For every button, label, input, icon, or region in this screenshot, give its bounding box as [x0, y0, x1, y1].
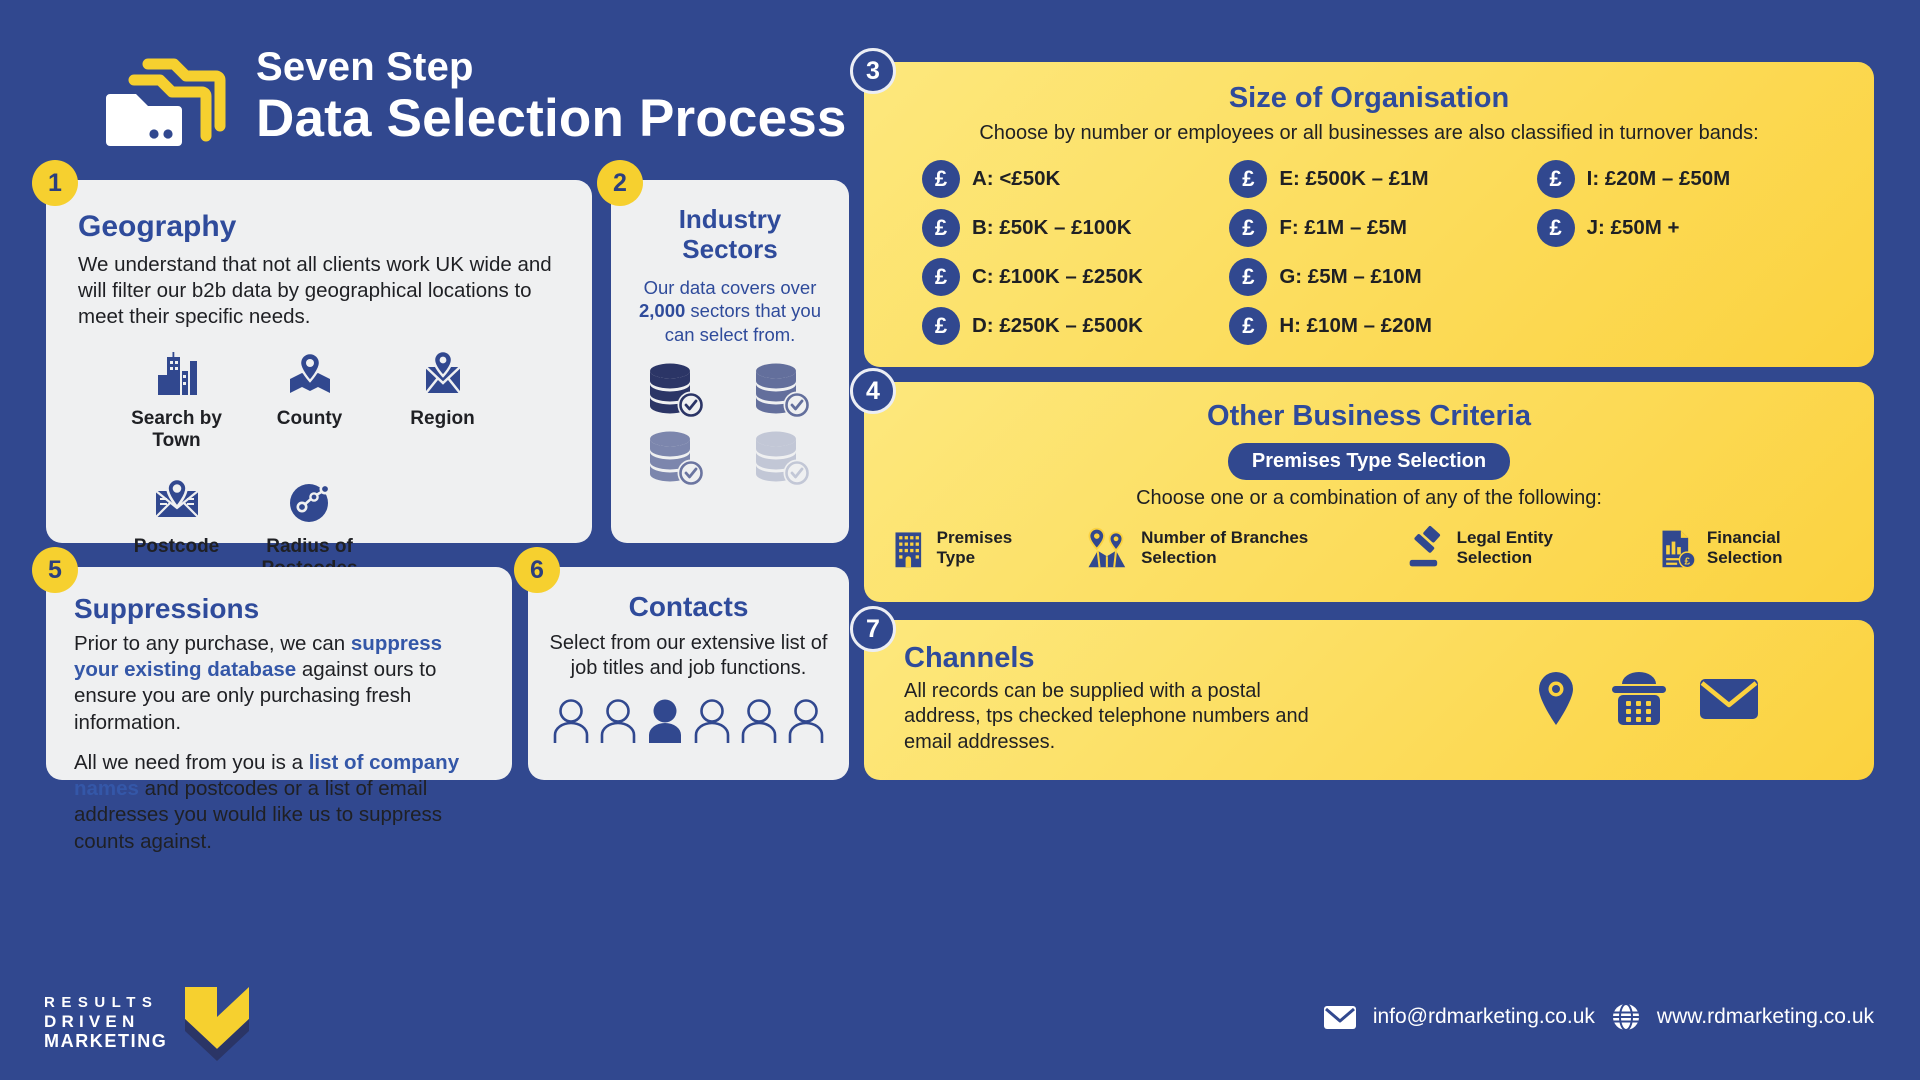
database-check-icon: [644, 360, 710, 422]
pound-icon: £: [922, 258, 960, 296]
step-badge-7: 7: [850, 606, 896, 652]
turnover-band-empty: [1537, 307, 1844, 345]
suppressions-p1-a: Prior to any purchase, we can: [74, 632, 351, 655]
criteria-item-legal-entity[interactable]: Legal Entity Selection: [1406, 525, 1618, 571]
section-card-contacts: 6 Contacts Select from our extensive lis…: [528, 567, 849, 780]
page-title: Seven Step Data Selection Process: [256, 46, 847, 147]
turnover-band-label: H: £10M – £20M: [1279, 314, 1432, 338]
turnover-band-g[interactable]: £G: £5M – £10M: [1229, 258, 1536, 296]
geography-title: Geography: [78, 210, 560, 244]
pound-icon: £: [1229, 307, 1267, 345]
database-check-icon: [750, 360, 816, 422]
chevron-logo-icon: [181, 985, 253, 1061]
telephone-icon: [1608, 670, 1670, 728]
office-building-icon: [890, 525, 927, 571]
geography-item-county[interactable]: County: [243, 345, 376, 452]
database-check-icon: [750, 428, 816, 490]
channels-title: Channels: [904, 642, 1324, 675]
geography-item-label: Search by Town: [110, 408, 243, 452]
turnover-band-label: A: <£50K: [972, 167, 1060, 191]
turnover-band-f[interactable]: £F: £1M – £5M: [1229, 209, 1536, 247]
section-card-channels: 7 Channels All records can be supplied w…: [864, 620, 1874, 780]
turnover-band-a[interactable]: £A: <£50K: [922, 160, 1229, 198]
geography-item-label: Postcode: [110, 536, 243, 558]
pound-icon: £: [1537, 209, 1575, 247]
person-outline-icon: [739, 697, 779, 745]
logo-line-2: DRIVEN: [44, 1012, 167, 1031]
criteria-item-premises-type[interactable]: Premises Type: [890, 525, 1045, 571]
envelope-pin-icon: [110, 473, 243, 527]
pound-icon: £: [922, 209, 960, 247]
step-badge-1: 1: [32, 160, 78, 206]
geography-item-radius-of-postcodes[interactable]: Radius of Postcodes: [243, 473, 376, 580]
channel-icons-row: [1532, 670, 1760, 728]
turnover-band-label: E: £500K – £1M: [1279, 167, 1428, 191]
logo-line-1: RESULTS: [44, 995, 167, 1012]
geography-body: We understand that not all clients work …: [78, 252, 560, 331]
other-business-criteria-subtitle: Choose one or a combination of any of th…: [890, 486, 1848, 511]
turnover-band-label: F: £1M – £5M: [1279, 216, 1407, 240]
turnover-band-d[interactable]: £D: £250K – £500K: [922, 307, 1229, 345]
location-pin-icon: [1532, 670, 1580, 728]
step-badge-6: 6: [514, 547, 560, 593]
title-line-2: Data Selection Process: [256, 90, 847, 147]
suppressions-p2-a: All we need from you is a: [74, 751, 309, 774]
criteria-item-financial-selection[interactable]: £ Financial Selection: [1657, 525, 1848, 571]
geography-item-region[interactable]: Region: [376, 345, 509, 452]
turnover-band-label: G: £5M – £10M: [1279, 265, 1421, 289]
person-filled-icon: [645, 697, 685, 745]
contacts-title: Contacts: [546, 591, 831, 623]
folder-icon: [104, 42, 228, 152]
suppressions-paragraph-2: All we need from you is a list of compan…: [74, 750, 484, 855]
geography-item-postcode[interactable]: Postcode: [110, 473, 243, 580]
sectors-text-after: sectors that you can select from.: [665, 300, 821, 344]
person-outline-icon: [692, 697, 732, 745]
title-line-1: Seven Step: [256, 46, 847, 88]
step-badge-3: 3: [850, 48, 896, 94]
turnover-band-i[interactable]: £I: £20M – £50M: [1537, 160, 1844, 198]
geography-item-label: Region: [376, 408, 509, 430]
logo-wordmark: RESULTS DRIVEN MARKETING: [44, 995, 167, 1051]
envelope-icon: [1323, 1005, 1357, 1030]
step-badge-2: 2: [597, 160, 643, 206]
geography-item-search-by-town[interactable]: Search by Town: [110, 345, 243, 452]
contacts-body: Select from our extensive list of job ti…: [546, 631, 831, 681]
footer-email[interactable]: info@rdmarketing.co.uk: [1373, 1005, 1595, 1029]
geography-item-label: County: [243, 408, 376, 430]
map-region-pin-icon: [376, 345, 509, 399]
turnover-band-label: B: £50K – £100K: [972, 216, 1132, 240]
turnover-band-c[interactable]: £C: £100K – £250K: [922, 258, 1229, 296]
buildings-icon: [110, 345, 243, 399]
envelope-icon: [1698, 676, 1760, 722]
industry-sectors-title: Industry Sectors: [629, 204, 831, 264]
gavel-icon: [1406, 525, 1446, 571]
database-icons-grid: [629, 360, 831, 490]
step-badge-4: 4: [850, 368, 896, 414]
turnover-band-h[interactable]: £H: £10M – £20M: [1229, 307, 1536, 345]
pound-icon: £: [1229, 258, 1267, 296]
footer-contact: info@rdmarketing.co.uk www.rdmarketing.c…: [1323, 1002, 1874, 1032]
company-logo: RESULTS DRIVEN MARKETING: [44, 985, 253, 1061]
suppressions-title: Suppressions: [74, 593, 484, 625]
geography-items: Search by Town County: [78, 345, 560, 584]
people-icons-row: [546, 697, 831, 745]
pound-icon: £: [1537, 160, 1575, 198]
pound-icon: £: [1229, 209, 1267, 247]
criteria-list: Premises Type Number of Branches Selecti…: [890, 525, 1848, 571]
pound-icon: £: [922, 160, 960, 198]
pound-icon: £: [1229, 160, 1267, 198]
globe-icon: [1611, 1002, 1641, 1032]
size-of-organisation-subtitle: Choose by number or employees or all bus…: [894, 121, 1844, 146]
section-card-industry-sectors: 2 Industry Sectors Our data covers over …: [611, 180, 849, 543]
turnover-band-e[interactable]: £E: £500K – £1M: [1229, 160, 1536, 198]
pound-icon: £: [922, 307, 960, 345]
criteria-item-label: Financial Selection: [1707, 528, 1848, 567]
turnover-bands-grid: £A: <£50K £E: £500K – £1M £I: £20M – £50…: [894, 160, 1844, 345]
person-outline-icon: [786, 697, 826, 745]
channels-body: All records can be supplied with a posta…: [904, 679, 1324, 755]
financial-report-icon: £: [1657, 525, 1697, 571]
person-outline-icon: [598, 697, 638, 745]
section-card-size-of-organisation: 3 Size of Organisation Choose by number …: [864, 62, 1874, 367]
turnover-band-b[interactable]: £B: £50K – £100K: [922, 209, 1229, 247]
turnover-band-label: C: £100K – £250K: [972, 265, 1143, 289]
sectors-count: 2,000: [639, 300, 685, 321]
turnover-band-empty: [1537, 258, 1844, 296]
premises-type-selection-pill[interactable]: Premises Type Selection: [1228, 443, 1510, 480]
criteria-item-label: Premises Type: [937, 528, 1046, 567]
other-business-criteria-title: Other Business Criteria: [890, 400, 1848, 433]
database-check-icon: [644, 428, 710, 490]
sectors-text-before: Our data covers over: [644, 277, 817, 298]
size-of-organisation-title: Size of Organisation: [894, 82, 1844, 115]
criteria-item-label: Legal Entity Selection: [1457, 528, 1619, 567]
header: Seven Step Data Selection Process: [104, 42, 847, 152]
svg-text:£: £: [1684, 556, 1690, 567]
turnover-band-label: J: £50M +: [1587, 216, 1680, 240]
logo-line-3: MARKETING: [44, 1031, 167, 1051]
step-badge-5: 5: [32, 547, 78, 593]
footer-website[interactable]: www.rdmarketing.co.uk: [1657, 1005, 1874, 1029]
industry-sectors-title-line2: Sectors: [682, 234, 777, 264]
turnover-band-label: I: £20M – £50M: [1587, 167, 1731, 191]
infographic-root: Seven Step Data Selection Process 1 Geog…: [0, 0, 1920, 1080]
turnover-band-label: D: £250K – £500K: [972, 314, 1143, 338]
turnover-band-j[interactable]: £J: £50M +: [1537, 209, 1844, 247]
section-card-geography: 1 Geography We understand that not all c…: [46, 180, 592, 543]
branches-map-icon: [1083, 525, 1131, 571]
map-pin-county-icon: [243, 345, 376, 399]
suppressions-paragraph-1: Prior to any purchase, we can suppress y…: [74, 631, 484, 736]
criteria-item-number-of-branches[interactable]: Number of Branches Selection: [1083, 525, 1368, 571]
person-outline-icon: [551, 697, 591, 745]
industry-sectors-title-line1: Industry: [679, 204, 782, 234]
industry-sectors-body: Our data covers over 2,000 sectors that …: [629, 276, 831, 345]
section-card-other-business-criteria: 4 Other Business Criteria Premises Type …: [864, 382, 1874, 602]
section-card-suppressions: 5 Suppressions Prior to any purchase, we…: [46, 567, 512, 780]
radius-node-icon: [243, 473, 376, 527]
criteria-item-label: Number of Branches Selection: [1141, 528, 1368, 567]
